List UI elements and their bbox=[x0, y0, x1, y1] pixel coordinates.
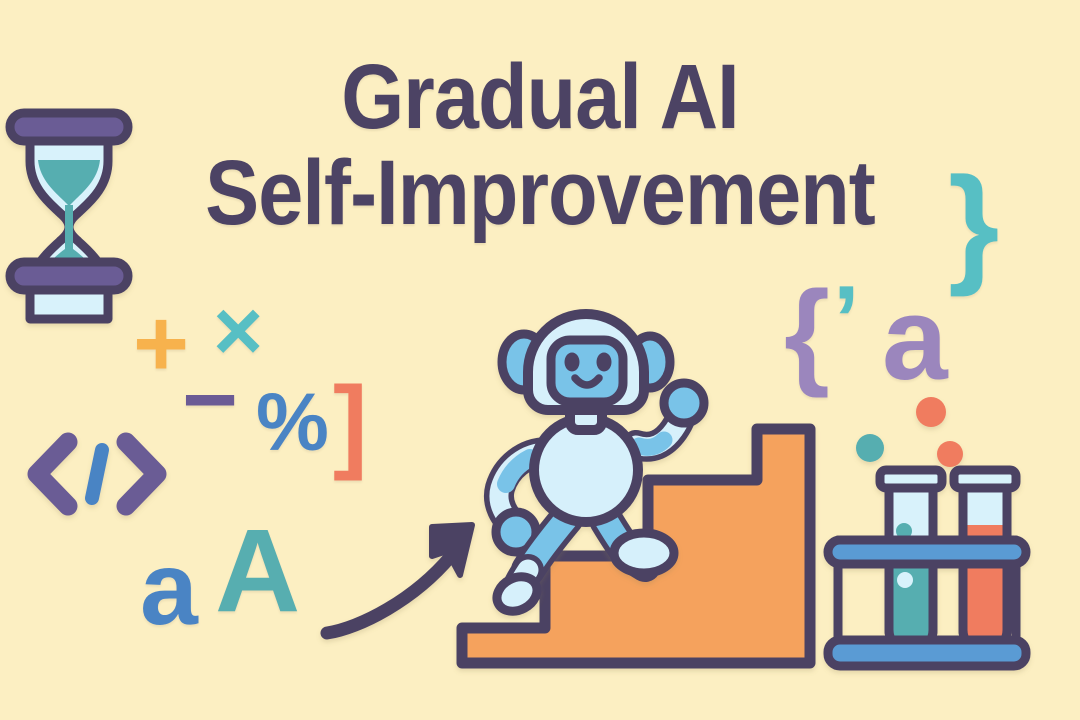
letter-a-uppercase: A bbox=[215, 512, 300, 630]
letter-a-purple: a bbox=[882, 280, 948, 398]
test-tubes-icon bbox=[828, 470, 1026, 666]
growth-arrow-icon bbox=[327, 525, 472, 633]
percent-symbol: % bbox=[256, 382, 329, 464]
right-brace-symbol: } bbox=[948, 158, 999, 290]
code-tag-icon bbox=[37, 442, 157, 506]
right-bracket-symbol: ] bbox=[333, 372, 368, 476]
minus-symbol: − bbox=[182, 352, 238, 448]
illustration-canvas: Gradual AI Self-Improvement + × − % ] a … bbox=[0, 0, 1080, 720]
left-brace-symbol: { bbox=[784, 274, 830, 392]
apostrophe-symbol: ’ bbox=[833, 272, 860, 368]
bubble-coral-small bbox=[937, 441, 963, 467]
letter-a-lowercase: a bbox=[140, 537, 198, 641]
plus-symbol: + bbox=[133, 296, 189, 392]
bubble-teal bbox=[856, 434, 884, 462]
hourglass-icon bbox=[10, 113, 128, 319]
